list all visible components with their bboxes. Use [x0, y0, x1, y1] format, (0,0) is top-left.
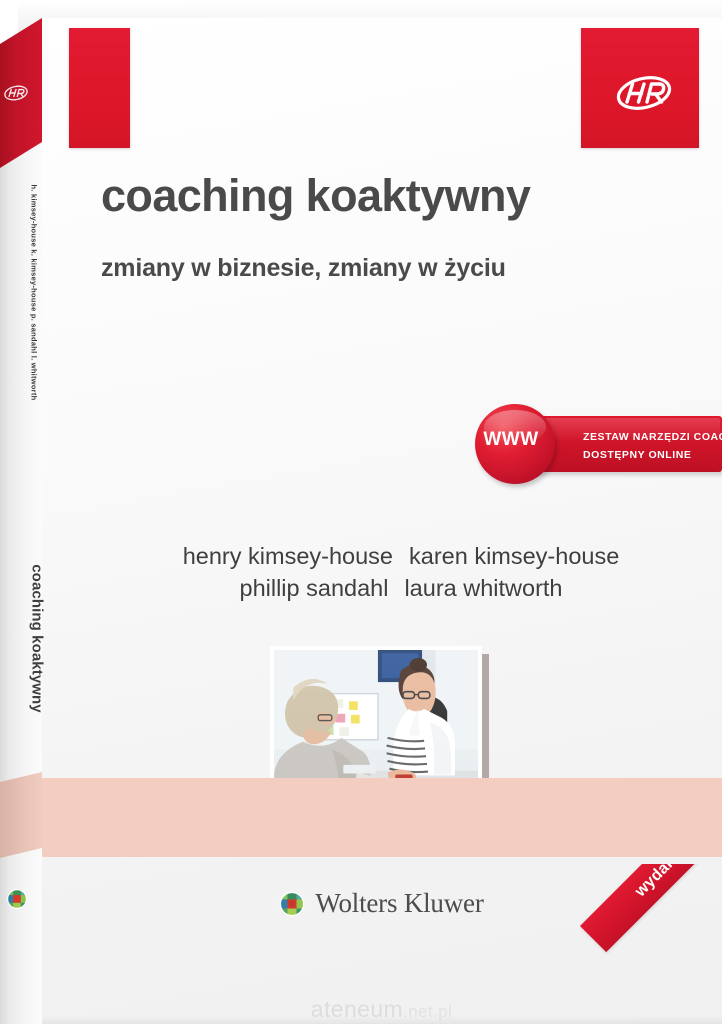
author-laura-whitworth: laura whitworth	[404, 575, 562, 601]
authors-row-1: henry kimsey-housekaren kimsey-house	[101, 541, 701, 573]
wolters-kluwer-mark-icon	[279, 891, 305, 917]
author-phillip-sandahl: phillip sandahl	[240, 575, 389, 601]
online-toolkit-badge: ZESTAW NARZĘDZI COACHA DOSTĘPNY ONLINE W…	[471, 400, 722, 488]
book-subtitle: zmiany w biznesie, zmiany w życiu	[101, 254, 701, 283]
cover-bottom-shading	[41, 1016, 722, 1024]
spine-hr-logo-icon	[3, 80, 29, 106]
badge-line-1: ZESTAW NARZĘDZI COACHA	[583, 431, 722, 443]
spine-authors-text: h. kimsey-house k. kimsey-house p. sanda…	[30, 173, 39, 413]
edition-ribbon-label: wydanie III	[632, 864, 704, 901]
spine-pink-band	[0, 772, 42, 858]
author-henry-kimsey-house: henry kimsey-house	[183, 543, 393, 569]
authors-block: henry kimsey-housekaren kimsey-house phi…	[101, 541, 701, 604]
pink-band	[41, 778, 722, 857]
author-karen-kimsey-house: karen kimsey-house	[409, 543, 619, 569]
book-cover-image: h. kimsey-house k. kimsey-house p. sanda…	[0, 0, 722, 1024]
publisher-name: Wolters Kluwer	[315, 890, 483, 917]
spine-wolters-kluwer-mark-icon	[6, 888, 28, 910]
authors-row-2: phillip sandahllaura whitworth	[101, 573, 701, 605]
book-title: coaching koaktywny	[101, 173, 701, 218]
edition-ribbon: wydanie III	[580, 864, 722, 952]
hr-logo-icon	[613, 70, 675, 116]
badge-line-2: DOSTĘPNY ONLINE	[583, 449, 691, 461]
front-cover: coaching koaktywny zmiany w biznesie, zm…	[41, 18, 722, 1024]
spine-title-text: coaching koaktywny	[29, 514, 46, 764]
red-accent-block-left	[69, 28, 130, 148]
badge-www-label: WWW	[471, 400, 551, 480]
